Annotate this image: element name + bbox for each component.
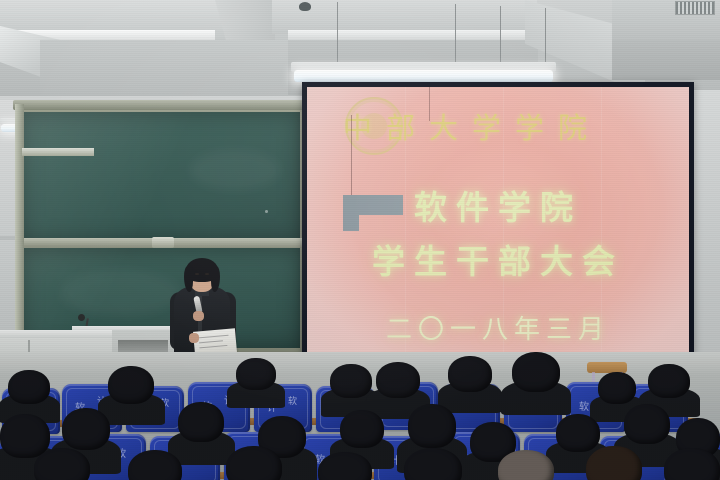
speaker-hair-side-left <box>184 266 193 292</box>
blackboard-rail-clip <box>152 237 174 248</box>
audience-member-head <box>34 448 90 480</box>
speaker-eye-left <box>195 273 199 275</box>
ceiling-sensor-icon <box>299 2 311 11</box>
audience-member-head <box>556 414 600 452</box>
microphone-icon <box>78 314 85 321</box>
screen-vignette <box>307 87 689 369</box>
audience-member-head <box>108 366 154 404</box>
light-hanger-wire <box>337 2 338 62</box>
audience-member-head <box>624 404 670 444</box>
audience-member-head <box>648 364 690 398</box>
paper-text-line <box>199 345 227 348</box>
photograph-scene: 中部大学学院 软件学院 学生干部大会 二〇一八年三月 <box>0 0 720 480</box>
audience-member-head <box>0 414 50 458</box>
audience-member-head <box>408 404 456 448</box>
paper-text-line <box>199 340 223 343</box>
blackboard-left-rail <box>15 104 24 352</box>
blackboard-smudge <box>190 150 280 190</box>
fluorescent-tube-light-center <box>291 62 556 84</box>
audience-area: 计软软计计软软计计软软计计软软计计软软计计软软计计软软计计软软计计软软计计软软计… <box>0 352 720 480</box>
blackboard-chalk-mark <box>265 210 268 213</box>
speaker-hand-holding-paper <box>189 333 199 343</box>
audience-member-head <box>178 402 224 442</box>
audience-member-head <box>8 370 50 404</box>
light-hanger-wire <box>500 6 501 62</box>
audience-member-head <box>376 362 420 398</box>
audience-member-head <box>226 446 282 480</box>
audience-member-head <box>236 358 276 390</box>
blackboard-smudge <box>60 270 180 316</box>
projection-screen-surface: 中部大学学院 软件学院 学生干部大会 二〇一八年三月 <box>307 87 689 369</box>
audience-member-head <box>664 448 720 480</box>
paper-text-line <box>199 335 229 339</box>
ceiling-face-right <box>612 40 720 80</box>
audience-member-head <box>448 356 492 392</box>
audience-member-head <box>340 410 384 448</box>
projection-screen: 中部大学学院 软件学院 学生干部大会 二〇一八年三月 <box>302 82 694 374</box>
audience-member-head <box>330 364 372 398</box>
blackboard-top-rail <box>13 100 309 110</box>
blackboard-slide-rail <box>22 148 94 156</box>
light-hanger-wire <box>455 4 456 62</box>
light-hanger-wire <box>545 8 546 66</box>
seat-print-mark: 软 <box>288 398 297 407</box>
audience-member-head <box>62 408 110 450</box>
tube-glow <box>294 70 554 81</box>
audience-member-head <box>586 446 642 480</box>
audience-member-head <box>512 352 560 392</box>
ceiling-vent-grille <box>675 1 715 15</box>
audience-member-head <box>404 448 462 480</box>
audience-member-head <box>598 372 636 404</box>
seat-print-mark: 软 <box>579 403 589 413</box>
speaker-eye-right <box>205 273 209 275</box>
ceiling-slab-center <box>272 0 537 34</box>
speaker-hand-holding-microphone <box>193 311 204 321</box>
